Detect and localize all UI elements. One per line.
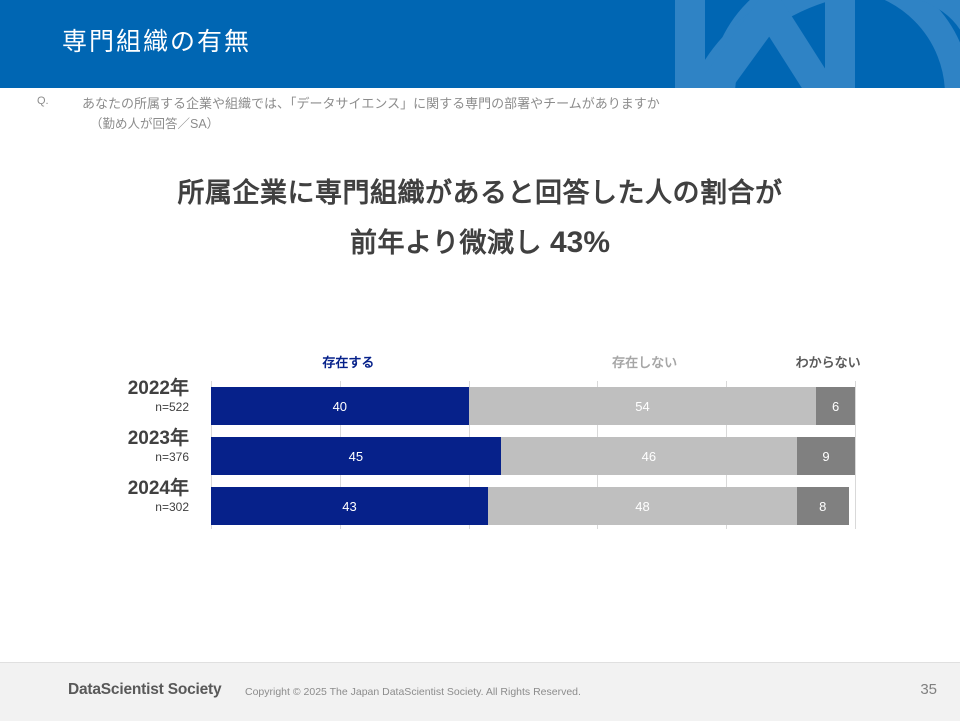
- question-marker: Q.: [37, 95, 49, 107]
- chart-bar-row: 45469: [211, 437, 855, 475]
- chart-legend-item: 存在する: [322, 352, 374, 371]
- chart-bar-segment: 46: [501, 437, 797, 475]
- chart-bar-segment: 9: [797, 437, 855, 475]
- footer-copyright: Copyright © 2025 The Japan DataScientist…: [245, 686, 581, 698]
- page-number: 35: [920, 681, 937, 698]
- headline-percentage: 43%: [550, 226, 610, 259]
- chart-bar-row: 40546: [211, 387, 855, 425]
- chart-category-sample-size: n=376: [0, 450, 200, 464]
- chart-category-year: 2024年: [0, 478, 200, 500]
- chart-bar-segment: 43: [211, 487, 488, 525]
- chart-category-year: 2023年: [0, 428, 200, 450]
- chart-legend-item: わからない: [796, 352, 861, 371]
- chart-bar-segment: 45: [211, 437, 501, 475]
- globe-m-watermark-icon: [540, 0, 960, 88]
- chart-gridline: [855, 381, 856, 529]
- chart-bar-segment: 40: [211, 387, 469, 425]
- page-title: 専門組織の有無: [62, 22, 251, 58]
- headline-line-2: 前年より微減し 43%: [0, 218, 960, 268]
- question-subtext: （勤め人が回答／SA）: [90, 114, 219, 134]
- chart-bar-segment: 48: [488, 487, 797, 525]
- chart-category-sample-size: n=302: [0, 500, 200, 514]
- footer-logo: DataScientist Society: [68, 681, 221, 699]
- chart-bar-segment: 8: [797, 487, 849, 525]
- chart-category-label: 2024年n=302: [0, 478, 200, 514]
- chart-legend-item: 存在しない: [612, 352, 677, 371]
- slide-footer: DataScientist Society Copyright © 2025 T…: [0, 662, 960, 721]
- chart-plot-area: 405464546943488: [211, 381, 855, 529]
- chart-category-label: 2023年n=376: [0, 428, 200, 464]
- chart-bar-segment: 6: [816, 387, 855, 425]
- chart-bar-segment: 54: [469, 387, 817, 425]
- chart-category-label: 2022年n=522: [0, 378, 200, 414]
- headline: 所属企業に専門組織があると回答した人の割合が 前年より微減し 43%: [0, 168, 960, 268]
- chart-category-year: 2022年: [0, 378, 200, 400]
- stacked-bar-chart: 存在する存在しないわからない 405464546943488 2022年n=52…: [0, 340, 960, 550]
- question-block: Q. あなたの所属する企業や組織では、「データサイエンス」に関する専門の部署やチ…: [0, 94, 960, 144]
- chart-category-sample-size: n=522: [0, 400, 200, 414]
- headline-line-1: 所属企業に専門組織があると回答した人の割合が: [0, 168, 960, 218]
- question-text: あなたの所属する企業や組織では、「データサイエンス」に関する専門の部署やチームが…: [82, 94, 660, 114]
- headline-line-2-prefix: 前年より微減し: [350, 228, 550, 258]
- chart-bar-row: 43488: [211, 487, 855, 525]
- slide-header: 専門組織の有無: [0, 0, 960, 88]
